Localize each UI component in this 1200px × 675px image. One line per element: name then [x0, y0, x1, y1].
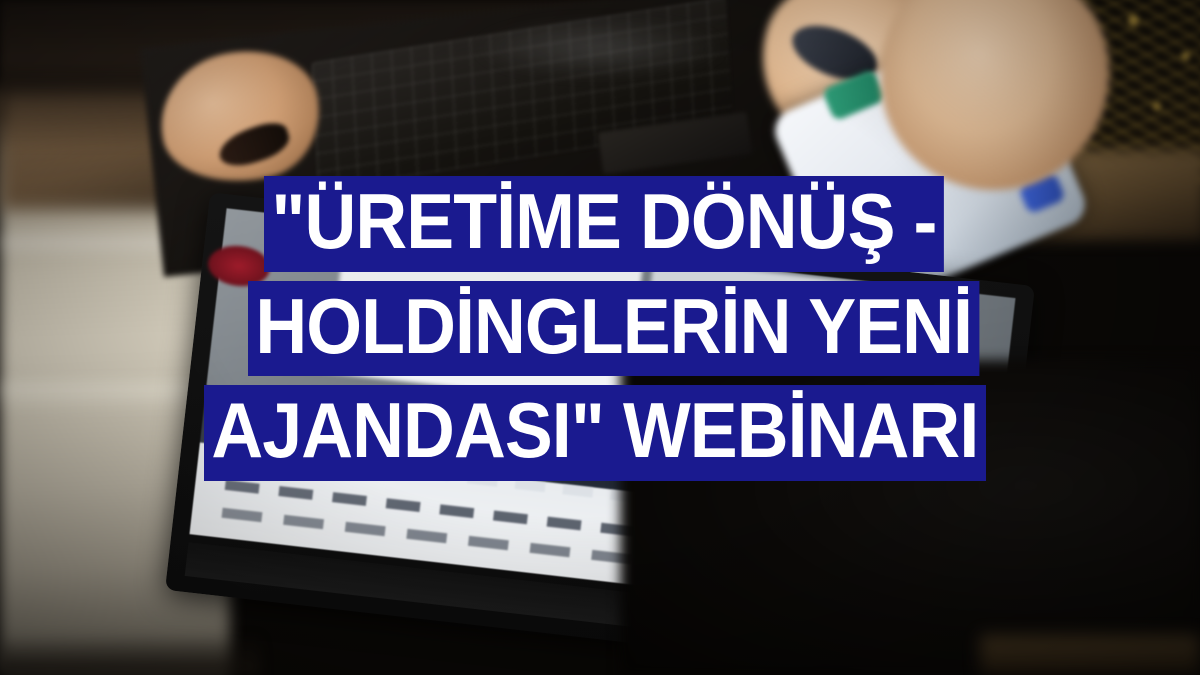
headline-line-2: HOLDİNGLERİN YENİ [248, 281, 979, 377]
dark-background-bottom-left [0, 635, 260, 675]
wooden-desk-bottom [980, 635, 1200, 675]
hero-image: "ÜRETİME DÖNÜŞ - HOLDİNGLERİN YENİ AJAND… [0, 0, 1200, 675]
headline-line-2-row: HOLDİNGLERİN YENİ [0, 281, 1200, 377]
headline-line-1-row: "ÜRETİME DÖNÜŞ - [0, 176, 1200, 272]
headline-overlay: "ÜRETİME DÖNÜŞ - HOLDİNGLERİN YENİ AJAND… [0, 176, 1200, 490]
headline-line-3: AJANDASI" WEBİNARI [204, 385, 986, 481]
keyboard-backlight-glow [470, 18, 730, 78]
headline-line-1: "ÜRETİME DÖNÜŞ - [264, 176, 944, 272]
headline-line-3-row: AJANDASI" WEBİNARI [0, 385, 1200, 481]
